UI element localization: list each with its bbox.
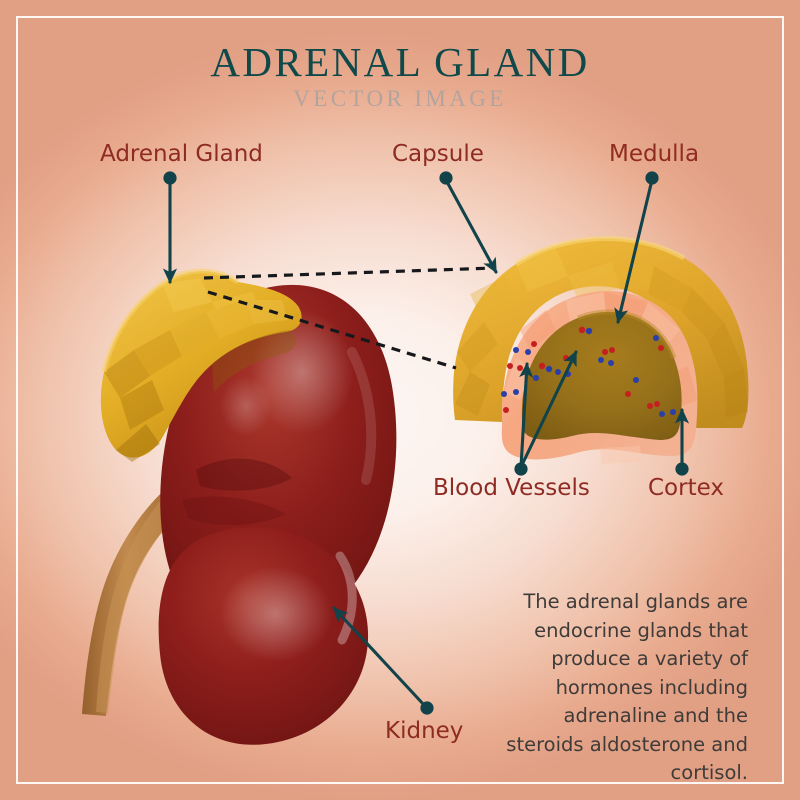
leader-capsule [439,171,496,272]
poster-canvas: ADRENAL GLAND VECTOR IMAGE Adrenal Gland… [0,0,800,800]
label-kidney: Kidney [385,718,463,744]
leader-adrenal-gland [163,171,176,282]
label-medulla: Medulla [609,141,699,167]
label-cortex: Cortex [648,475,724,501]
description-text: The adrenal glands are endocrine glands … [492,588,748,788]
dashed-connector-top [204,268,494,278]
label-adrenal-gland: Adrenal Gland [100,141,263,167]
label-blood-vessels: Blood Vessels [433,475,590,501]
page-subtitle: VECTOR IMAGE [0,86,800,112]
page-title: ADRENAL GLAND [0,38,800,86]
kidney-group [82,271,396,745]
label-capsule: Capsule [392,141,484,167]
